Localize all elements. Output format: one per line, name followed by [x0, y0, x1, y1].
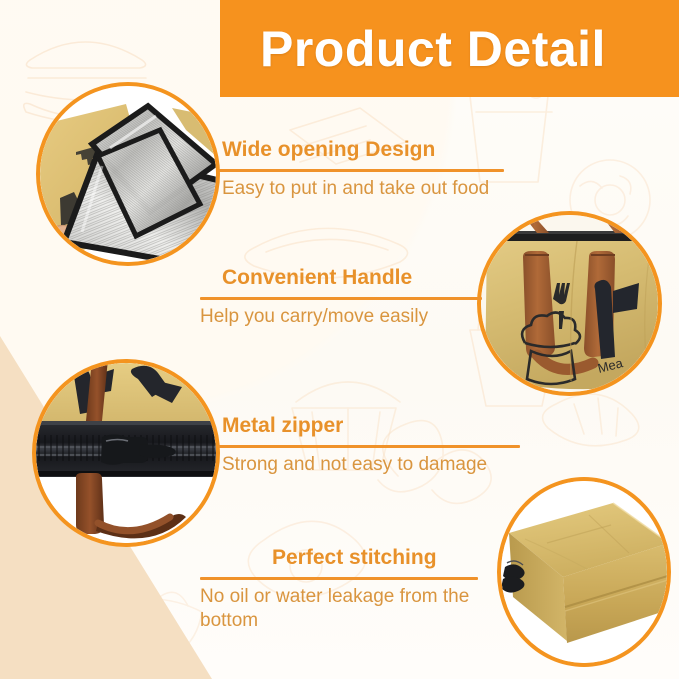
feature-image-wide-opening[interactable]	[36, 82, 220, 266]
feature-heading-perfect-stitching: Perfect stitching	[200, 546, 478, 571]
photo-bag-bottom-stitching	[501, 481, 667, 663]
photo-foil-lining	[40, 86, 216, 262]
feature-divider-metal-zipper	[218, 445, 520, 448]
feature-heading-convenient-handle: Convenient Handle	[200, 266, 482, 291]
feature-heading-wide-opening: Wide opening Design	[222, 138, 522, 163]
feature-description-metal-zipper: Strong and not easy to damage	[222, 453, 530, 477]
feature-image-perfect-stitching[interactable]	[497, 477, 671, 667]
feature-text-metal-zipper: Metal zipper Strong and not easy to dama…	[222, 414, 530, 477]
feature-heading-metal-zipper: Metal zipper	[222, 414, 530, 439]
feature-divider-wide-opening	[218, 169, 504, 172]
photo-metal-zipper	[36, 363, 216, 543]
feature-description-perfect-stitching: No oil or water leakage from the bottom	[200, 585, 478, 633]
photo-carry-handles: Mea	[481, 215, 658, 392]
feature-text-convenient-handle: Convenient Handle Help you carry/move ea…	[200, 266, 482, 329]
page-title: Product Detail	[260, 24, 606, 74]
product-detail-infographic: Product Detail	[0, 0, 679, 679]
feature-image-convenient-handle[interactable]: Mea	[477, 211, 662, 396]
feature-divider-perfect-stitching	[200, 577, 478, 580]
feature-text-wide-opening: Wide opening Design Easy to put in and t…	[222, 138, 522, 201]
feature-text-perfect-stitching: Perfect stitching No oil or water leakag…	[200, 546, 478, 633]
feature-description-wide-opening: Easy to put in and take out food	[222, 177, 522, 201]
feature-description-convenient-handle: Help you carry/move easily	[200, 305, 482, 329]
feature-divider-convenient-handle	[200, 297, 482, 300]
header-banner: Product Detail	[220, 0, 679, 97]
feature-image-metal-zipper[interactable]	[32, 359, 220, 547]
